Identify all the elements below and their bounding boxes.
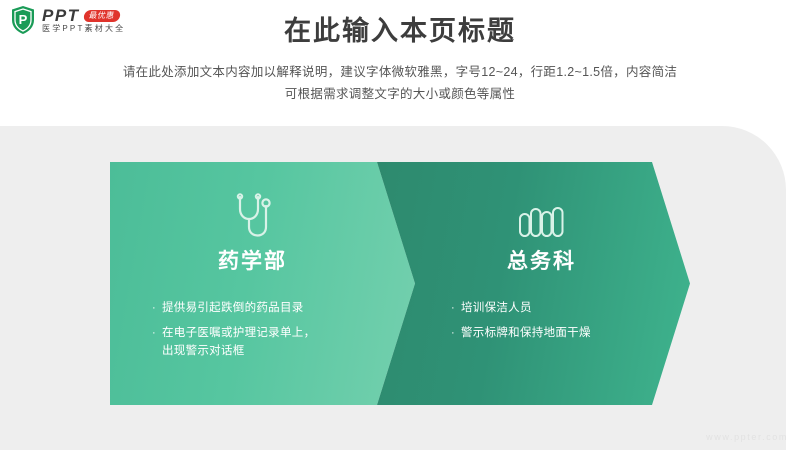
chevron-panel-group: 药学部 · 提供易引起跌倒的药品目录 · 在电子医嘱或护理记录单上， 出现警示对…	[110, 162, 690, 405]
shield-letter: P	[19, 13, 28, 26]
bullet-text: 培训保洁人员	[461, 300, 532, 318]
site-watermark: www.ppter.com	[706, 432, 788, 442]
bullet-marker: ·	[152, 325, 156, 342]
panel-general-affairs-bullets: · 培训保洁人员 · 警示标牌和保持地面干燥	[377, 300, 690, 350]
bullet-marker: ·	[451, 300, 455, 317]
list-item: · 警示标牌和保持地面干燥	[451, 325, 690, 343]
bullet-text: 在电子医嘱或护理记录单上， 出现警示对话框	[162, 325, 315, 361]
panel-pharmacy-heading: 药学部	[218, 251, 287, 272]
bullet-marker: ·	[152, 300, 156, 317]
bullet-marker: ·	[451, 325, 455, 342]
panel-general-affairs-heading: 总务科	[507, 251, 576, 272]
panel-pharmacy[interactable]: 药学部 · 提供易引起跌倒的药品目录 · 在电子医嘱或护理记录单上， 出现警示对…	[110, 162, 415, 405]
page-subtitle: 请在此处添加文本内容加以解释说明，建议字体微软雅黑，字号12~24，行距1.2~…	[0, 62, 800, 106]
panel-pharmacy-bullets: · 提供易引起跌倒的药品目录 · 在电子医嘱或护理记录单上， 出现警示对话框	[110, 300, 415, 367]
list-item: · 在电子医嘱或护理记录单上， 出现警示对话框	[152, 325, 415, 361]
capsules-icon	[518, 189, 566, 239]
list-item: · 培训保洁人员	[451, 300, 690, 318]
panel-general-affairs[interactable]: 总务科 · 培训保洁人员 · 警示标牌和保持地面干燥	[377, 162, 690, 405]
stethoscope-icon	[232, 189, 274, 239]
subtitle-line-2: 可根据需求调整文字的大小或颜色等属性	[0, 84, 800, 106]
bullet-text: 警示标牌和保持地面干燥	[461, 325, 591, 343]
bullet-text: 提供易引起跌倒的药品目录	[162, 300, 304, 318]
list-item: · 提供易引起跌倒的药品目录	[152, 300, 415, 318]
slide-header: 在此输入本页标题 请在此处添加文本内容加以解释说明，建议字体微软雅黑，字号12~…	[0, 14, 800, 106]
page-title: 在此输入本页标题	[0, 14, 800, 49]
subtitle-line-1: 请在此处添加文本内容加以解释说明，建议字体微软雅黑，字号12~24，行距1.2~…	[0, 62, 800, 84]
